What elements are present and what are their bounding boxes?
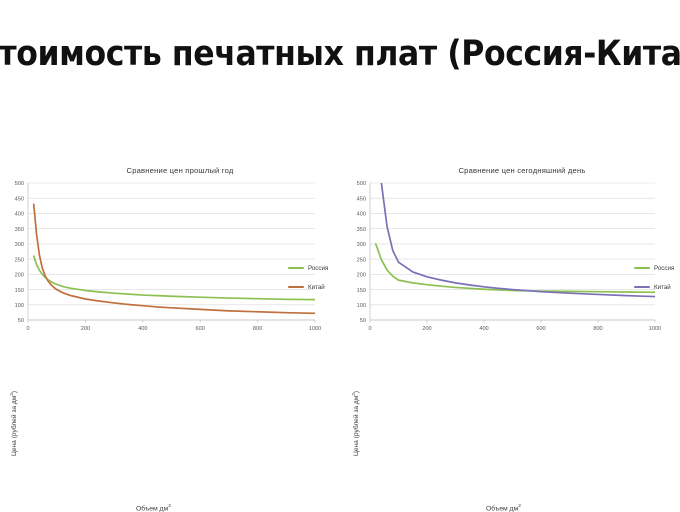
legend-swatch-china	[634, 286, 650, 288]
legend-swatch-russia	[288, 267, 304, 269]
svg-text:500: 500	[15, 181, 24, 187]
y-axis-title-right: Цена (рублей за дм2)	[352, 391, 360, 456]
x-axis-title-left: Объем дм2	[136, 504, 171, 512]
svg-text:100: 100	[15, 303, 24, 309]
svg-text:450: 450	[15, 196, 24, 202]
y-axis-title-left: Цена (рублей за дм2)	[10, 391, 18, 456]
svg-text:1000: 1000	[309, 326, 321, 332]
svg-text:50: 50	[360, 318, 366, 324]
legend-swatch-china	[288, 286, 304, 288]
svg-text:150: 150	[357, 288, 366, 294]
svg-text:200: 200	[81, 326, 90, 332]
svg-text:400: 400	[15, 212, 24, 218]
svg-text:50: 50	[18, 318, 24, 324]
svg-text:0: 0	[368, 326, 371, 332]
chart-today: Сравнение цен сегодняшний день 501001502…	[340, 160, 680, 370]
svg-text:350: 350	[357, 227, 366, 233]
svg-text:400: 400	[479, 326, 488, 332]
svg-text:0: 0	[26, 326, 29, 332]
legend-label-russia: Россия	[654, 265, 674, 272]
svg-text:300: 300	[357, 242, 366, 248]
svg-text:250: 250	[15, 257, 24, 263]
legend-item-russia: Россия	[634, 262, 680, 274]
legend-label-china: Китай	[308, 284, 325, 291]
legend-item-china: Китай	[634, 281, 680, 293]
legend-right: Россия Китай	[634, 262, 680, 300]
legend-label-russia: Россия	[308, 265, 328, 272]
svg-text:600: 600	[196, 326, 205, 332]
legend-label-china: Китай	[654, 284, 671, 291]
plot-area-right: 5010015020025030035040045050002004006008…	[340, 160, 680, 370]
svg-text:500: 500	[357, 181, 366, 187]
svg-text:200: 200	[15, 273, 24, 279]
svg-text:300: 300	[15, 242, 24, 248]
svg-text:200: 200	[422, 326, 431, 332]
svg-text:400: 400	[138, 326, 147, 332]
svg-text:350: 350	[15, 227, 24, 233]
svg-text:100: 100	[357, 303, 366, 309]
svg-text:450: 450	[357, 196, 366, 202]
svg-text:250: 250	[357, 257, 366, 263]
x-axis-title-right: Объем дм2	[486, 504, 521, 512]
svg-text:400: 400	[357, 212, 366, 218]
svg-text:600: 600	[536, 326, 545, 332]
plot-svg-right: 5010015020025030035040045050002004006008…	[340, 160, 680, 370]
svg-text:200: 200	[357, 273, 366, 279]
svg-text:150: 150	[15, 288, 24, 294]
svg-text:800: 800	[253, 326, 262, 332]
svg-text:800: 800	[593, 326, 602, 332]
legend-swatch-russia	[634, 267, 650, 269]
page-title: тоимость печатных плат (Россия-Кита	[0, 34, 680, 74]
svg-text:1000: 1000	[649, 326, 661, 332]
